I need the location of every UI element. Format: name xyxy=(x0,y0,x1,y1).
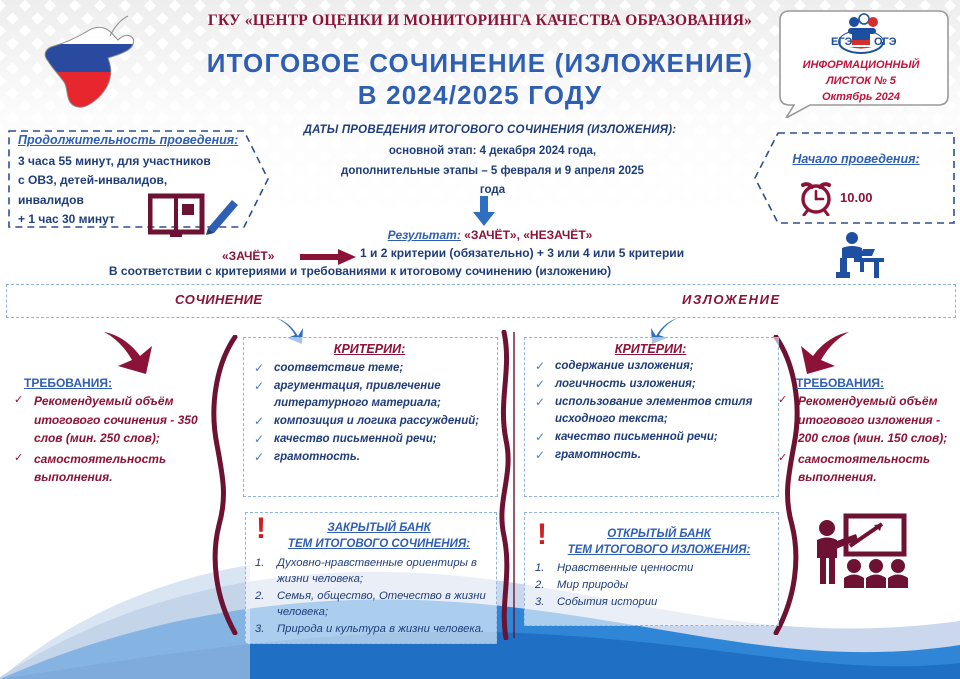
closed-bank-heading: ЗАКРЫТЫЙ БАНК ТЕМ ИТОГОВОГО СОЧИНЕНИЯ: xyxy=(270,521,488,552)
duration-title: Продолжительность проведения: xyxy=(18,133,238,147)
arrow-right-icon xyxy=(300,249,356,265)
dates-text: основной этап: 4 декабря 2024 года, допо… xyxy=(290,142,695,201)
list-item: Рекомендуемый объём итогового сочинения … xyxy=(14,392,219,448)
open-bank-list: Нравственные ценности Мир природы Событи… xyxy=(533,560,769,611)
dates-line2: дополнительные этапы – 5 февраля и 9 апр… xyxy=(290,162,695,182)
exclamation-icon: ! xyxy=(537,524,547,546)
zachet-label: «ЗАЧЁТ» xyxy=(222,249,274,263)
list-item: грамотность. xyxy=(533,447,771,464)
open-bank-heading: ОТКРЫТЫЙ БАНК ТЕМ ИТОГОВОГО ИЗЛОЖЕНИЯ: xyxy=(548,527,770,558)
closed-bank-list: Духовно-нравственные ориентиры в жизни ч… xyxy=(253,555,489,638)
exclamation-icon: ! xyxy=(256,518,266,540)
accordance-text: В соответствии с критериями и требования… xyxy=(10,264,710,278)
info-sheet-caption: ИНФОРМАЦИОННЫЙ ЛИСТОК № 5 Октябрь 2024 xyxy=(782,58,940,106)
start-time-panel-outline xyxy=(752,130,957,226)
book-and-pencil-icon xyxy=(148,192,240,238)
list-item: Нравственные ценности xyxy=(533,560,769,576)
svg-text:ОГЭ: ОГЭ xyxy=(874,36,896,48)
start-time-value: 10.00 xyxy=(840,190,873,205)
arrow-down-to-requirements-left-icon xyxy=(100,330,158,376)
arrow-down-icon xyxy=(472,196,496,226)
organization-title: ГКУ «ЦЕНТР ОЦЕНКИ И МОНИТОРИНГА КАЧЕСТВА… xyxy=(170,12,790,30)
crimea-flag-map-icon xyxy=(18,6,148,116)
alarm-clock-icon xyxy=(796,176,836,216)
list-item: композиция и логика рассуждений; xyxy=(252,413,492,430)
start-time-title: Начало проведения: xyxy=(762,152,950,166)
result-line: Результат: «ЗАЧЁТ», «НЕЗАЧЁТ» xyxy=(300,228,680,242)
list-item: самостоятельность выполнения. xyxy=(14,450,219,487)
list-item: грамотность. xyxy=(252,449,492,466)
list-item: логичность изложения; xyxy=(533,376,771,393)
info-sheet-line3: Октябрь 2024 xyxy=(782,90,940,106)
essay-exposition-band xyxy=(6,284,956,318)
band-label-izlozhenie: ИЗЛОЖЕНИЕ xyxy=(682,292,781,307)
open-bank-heading-line2: ТЕМ ИТОГОВОГО ИЗЛОЖЕНИЯ: xyxy=(548,543,770,559)
list-item: соответствие теме; xyxy=(252,360,492,377)
page-title-line2: В 2024/2025 ГОДУ xyxy=(180,80,780,112)
criteria-rule-text: 1 и 2 критерии (обязательно) + 3 или 4 и… xyxy=(360,246,684,260)
criteria-heading-essay: КРИТЕРИИ: xyxy=(243,342,496,356)
list-item: качество письменной речи; xyxy=(533,429,771,446)
info-sheet-line2: ЛИСТОК № 5 xyxy=(782,74,940,90)
list-item: аргументация, привлечение литературного … xyxy=(252,378,492,412)
page-title-line1: ИТОГОВОЕ СОЧИНЕНИЕ (ИЗЛОЖЕНИЕ) xyxy=(207,48,754,78)
list-item: содержание изложения; xyxy=(533,358,771,375)
list-item: События истории xyxy=(533,594,769,610)
criteria-heading-exposition: КРИТЕРИИ: xyxy=(524,342,777,356)
info-sheet-line1: ИНФОРМАЦИОННЫЙ xyxy=(782,58,940,74)
list-item: использование элементов стиля исходного … xyxy=(533,394,771,428)
closed-bank-heading-line1: ЗАКРЫТЫЙ БАНК xyxy=(270,521,488,537)
duration-line2: с ОВЗ, детей-инвалидов, xyxy=(18,171,233,190)
band-label-sochinenie: СОЧИНЕНИЕ xyxy=(175,292,262,307)
teacher-at-board-icon xyxy=(812,512,922,597)
list-item: самостоятельность выполнения. xyxy=(778,450,956,487)
requirements-list-essay: Рекомендуемый объём итогового сочинения … xyxy=(14,392,219,489)
criteria-list-exposition: содержание изложения; логичность изложен… xyxy=(533,358,771,465)
page-title: ИТОГОВОЕ СОЧИНЕНИЕ (ИЗЛОЖЕНИЕ) В 2024/20… xyxy=(180,48,780,111)
requirements-heading-essay: ТРЕБОВАНИЯ: xyxy=(24,376,112,390)
list-item: Рекомендуемый объём итогового изложения … xyxy=(778,392,956,448)
open-bank-heading-line1: ОТКРЫТЫЙ БАНК xyxy=(548,527,770,543)
duration-line1: 3 часа 55 минут, для участников xyxy=(18,152,233,171)
list-item: Природа и культура в жизни человека. xyxy=(253,621,489,637)
list-item: качество письменной речи; xyxy=(252,431,492,448)
dates-title: ДАТЫ ПРОВЕДЕНИЯ ИТОГОВОГО СОЧИНЕНИЯ (ИЗЛ… xyxy=(290,124,690,136)
criteria-list-essay: соответствие теме; аргументация, привлеч… xyxy=(252,360,492,467)
result-label: Результат: xyxy=(388,228,461,242)
requirements-heading-exposition: ТРЕБОВАНИЯ: xyxy=(796,376,884,390)
closed-bank-heading-line2: ТЕМ ИТОГОВОГО СОЧИНЕНИЯ: xyxy=(270,537,488,553)
list-item: Мир природы xyxy=(533,577,769,593)
ege-oge-logo: ЕГЭ ОГЭ xyxy=(826,12,896,56)
list-item: Духовно-нравственные ориентиры в жизни ч… xyxy=(253,555,489,587)
svg-text:ЕГЭ: ЕГЭ xyxy=(831,36,853,48)
list-item: Семья, общество, Отечество в жизни челов… xyxy=(253,588,489,620)
result-values: «ЗАЧЁТ», «НЕЗАЧЁТ» xyxy=(464,228,592,242)
student-at-desk-icon xyxy=(830,232,892,280)
requirements-list-exposition: Рекомендуемый объём итогового изложения … xyxy=(778,392,956,489)
dates-line1: основной этап: 4 декабря 2024 года, xyxy=(290,142,695,162)
